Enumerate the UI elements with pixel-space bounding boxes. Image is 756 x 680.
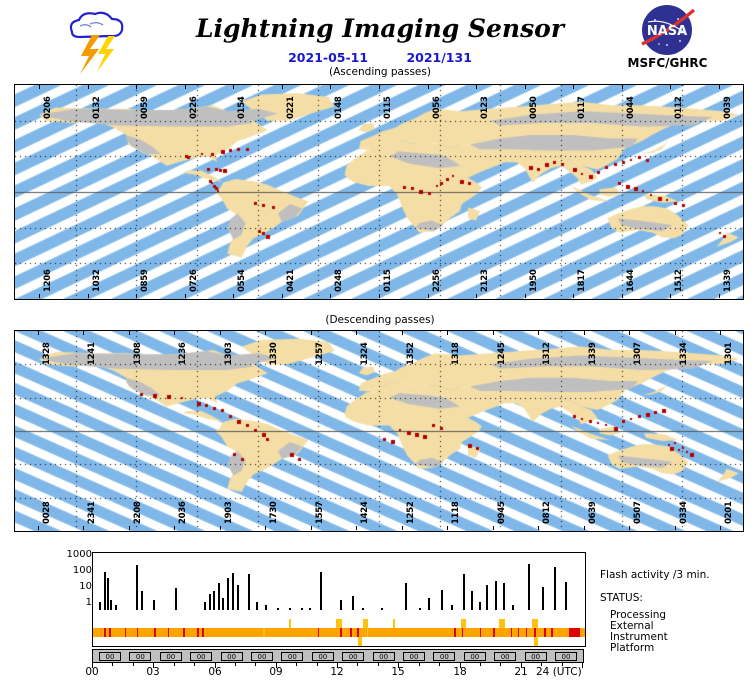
status-mark xyxy=(350,628,352,637)
histogram-bar xyxy=(107,578,109,611)
map-time-label: 1245 xyxy=(497,343,507,365)
map-tick xyxy=(525,294,526,298)
status-mark xyxy=(367,628,369,637)
map-time-label: 1557 xyxy=(315,502,325,524)
histogram-bar xyxy=(352,596,354,611)
status-mark xyxy=(168,628,170,637)
map-time-label: 0028 xyxy=(42,502,52,524)
map-time-label: 1257 xyxy=(315,343,325,365)
map-tick xyxy=(136,294,137,298)
map-tick xyxy=(233,85,234,89)
histogram-bar xyxy=(104,572,106,611)
map-tick xyxy=(311,331,312,335)
map-tick xyxy=(629,331,630,335)
descending-passes-map[interactable]: 1328124113081236130313301257132413521318… xyxy=(14,330,744,532)
status-mark xyxy=(551,628,553,637)
axis-time-label: 09 xyxy=(269,666,282,678)
map-time-label: 1334 xyxy=(679,343,689,365)
map-tick xyxy=(447,526,448,530)
status-mark xyxy=(340,628,342,637)
status-mark xyxy=(183,628,185,637)
histogram-bar xyxy=(405,583,407,611)
map-tick xyxy=(265,526,266,530)
orbit-box: 00 xyxy=(403,652,425,661)
orbit-box: 00 xyxy=(342,652,364,661)
map-tick xyxy=(330,294,331,298)
map-tick xyxy=(39,294,40,298)
observation-date: 2021-05-11 xyxy=(288,50,368,65)
map-tick xyxy=(428,85,429,89)
histogram-bar xyxy=(232,573,234,611)
map-time-label: 1301 xyxy=(724,343,734,365)
status-mark xyxy=(289,619,291,628)
agency-label: MSFC/GHRC xyxy=(610,56,725,70)
status-mark xyxy=(461,619,467,628)
axis-time-label: 18 xyxy=(453,666,466,678)
map-time-label: 1644 xyxy=(626,270,636,292)
map-tick xyxy=(573,294,574,298)
map-tick xyxy=(476,294,477,298)
status-mark xyxy=(480,628,482,637)
map-tick xyxy=(493,331,494,335)
map-time-label: 0812 xyxy=(542,502,552,524)
orbit-box: 00 xyxy=(129,652,151,661)
y-axis-tick-label: 1000 xyxy=(67,550,92,560)
orbit-axis-band: 00000000000000000000000000000000 xyxy=(92,649,584,663)
map-tick xyxy=(356,331,357,335)
map-tick xyxy=(447,331,448,335)
map-tick xyxy=(83,526,84,530)
legend-status-header: STATUS: xyxy=(600,592,643,604)
map-time-label: 0859 xyxy=(140,270,150,292)
page-title: Lightning Imaging Sensor xyxy=(180,14,580,43)
map-tick xyxy=(622,85,623,89)
legend-platform: Platform xyxy=(610,642,654,654)
map-tick xyxy=(39,85,40,89)
status-mark xyxy=(358,637,362,646)
map-time-label: 1303 xyxy=(224,343,234,365)
map-time-label: 0221 xyxy=(286,97,296,119)
status-mark xyxy=(104,628,106,637)
map-tick xyxy=(174,526,175,530)
map-tick xyxy=(476,85,477,89)
axis-time-label: 06 xyxy=(208,666,221,678)
map-tick xyxy=(402,331,403,335)
map-time-label: 1324 xyxy=(360,343,370,365)
map-time-label: 0639 xyxy=(588,502,598,524)
histogram-bar xyxy=(542,587,544,611)
map-time-label: 0334 xyxy=(679,502,689,524)
map-time-label: 1252 xyxy=(406,502,416,524)
map-tick xyxy=(88,85,89,89)
histogram-bar xyxy=(248,574,250,611)
orbit-box: 00 xyxy=(251,652,273,661)
map-tick xyxy=(402,526,403,530)
map-tick xyxy=(38,331,39,335)
map-time-label: 1352 xyxy=(406,343,416,365)
status-mark xyxy=(454,628,456,637)
map-time-label: 0112 xyxy=(674,97,684,119)
status-mark xyxy=(125,628,127,637)
orbit-box: 00 xyxy=(525,652,547,661)
map-tick xyxy=(584,331,585,335)
orbit-box: 00 xyxy=(190,652,212,661)
map-tick xyxy=(282,294,283,298)
status-mark xyxy=(534,637,538,646)
map-time-label: 1032 xyxy=(92,270,102,292)
map-tick xyxy=(83,331,84,335)
status-row-platform[interactable] xyxy=(92,637,586,647)
map-tick xyxy=(538,526,539,530)
status-mark xyxy=(544,628,546,637)
axis-time-label: 00 xyxy=(85,666,98,678)
map-tick xyxy=(719,85,720,89)
orbit-box: 00 xyxy=(281,652,303,661)
map-tick xyxy=(719,294,720,298)
map-time-label: 0554 xyxy=(237,270,247,292)
map-tick xyxy=(670,294,671,298)
histogram-bar xyxy=(495,581,497,611)
map-time-label: 1308 xyxy=(133,343,143,365)
status-mark xyxy=(336,619,342,628)
map-tick xyxy=(584,526,585,530)
orbit-box: 00 xyxy=(433,652,455,661)
orbit-box: 00 xyxy=(373,652,395,661)
map-tick xyxy=(675,331,676,335)
ascending-passes-map[interactable]: 0206013200590226015402210148011500560123… xyxy=(14,84,744,300)
map-tick xyxy=(185,294,186,298)
status-mark xyxy=(197,628,199,637)
histogram-bar xyxy=(565,582,567,611)
map-time-label: 0148 xyxy=(334,97,344,119)
map-time-label: 1236 xyxy=(178,343,188,365)
map-time-label: 1339 xyxy=(723,270,733,292)
map-tick xyxy=(220,331,221,335)
day-of-year: 2021/131 xyxy=(406,50,471,65)
map-time-label: 0248 xyxy=(334,270,344,292)
status-mark xyxy=(499,619,505,628)
map-tick xyxy=(622,294,623,298)
histogram-bar xyxy=(136,565,138,611)
histogram-bar xyxy=(218,583,220,611)
ascending-caption: (Ascending passes) xyxy=(180,66,580,78)
map-time-label: 1330 xyxy=(269,343,279,365)
map-time-label: 2341 xyxy=(87,502,97,524)
y-axis-tick-label: 10 xyxy=(79,582,92,592)
map-tick xyxy=(136,85,137,89)
status-mark xyxy=(263,628,265,637)
map-tick xyxy=(538,331,539,335)
map-tick xyxy=(720,526,721,530)
map-time-label: 1424 xyxy=(360,502,370,524)
orbit-box: 00 xyxy=(312,652,334,661)
y-axis-tick-label: 100 xyxy=(73,566,92,576)
orbit-box: 00 xyxy=(464,652,486,661)
date-bar: 2021-05-11 2021/131 xyxy=(180,50,580,65)
histogram-y-axis: 1000100101 xyxy=(52,550,92,612)
utc-axis-label: 24 (UTC) xyxy=(536,666,582,678)
map-tick xyxy=(282,85,283,89)
status-mark xyxy=(569,628,580,637)
map-tick xyxy=(675,526,676,530)
map-time-label: 1241 xyxy=(87,343,97,365)
histogram-bar xyxy=(227,578,229,611)
map-tick xyxy=(525,85,526,89)
orbit-box: 00 xyxy=(221,652,243,661)
map-time-label: 1118 xyxy=(451,502,461,524)
status-mark xyxy=(357,628,359,637)
map-time-label: 0154 xyxy=(237,97,247,119)
map-tick xyxy=(670,85,671,89)
map-tick xyxy=(379,85,380,89)
map-tick xyxy=(629,526,630,530)
map-time-label: 1512 xyxy=(674,270,684,292)
map-time-label: 1318 xyxy=(451,343,461,365)
map-tick xyxy=(233,294,234,298)
map-time-label: 0115 xyxy=(383,97,393,119)
map-tick xyxy=(428,294,429,298)
histogram-bar xyxy=(486,585,488,611)
map-tick xyxy=(185,85,186,89)
map-time-label: 2256 xyxy=(432,270,442,292)
descending-caption: (Descending passes) xyxy=(180,314,580,326)
status-mark xyxy=(511,628,513,637)
map-tick xyxy=(38,526,39,530)
map-time-label: 1307 xyxy=(633,343,643,365)
map-time-label: 0117 xyxy=(577,97,587,119)
map-time-label: 1950 xyxy=(529,270,539,292)
histogram-bar xyxy=(209,594,211,611)
map-time-label: 1206 xyxy=(43,270,53,292)
orbit-box: 00 xyxy=(99,652,121,661)
status-mark xyxy=(393,619,395,628)
axis-time-label: 21 xyxy=(514,666,527,678)
map-time-label: 0044 xyxy=(626,97,636,119)
status-mark xyxy=(318,628,320,637)
histogram-bar xyxy=(471,591,473,611)
legend-flash-activity: Flash activity /3 min. xyxy=(600,569,710,581)
map-tick xyxy=(129,331,130,335)
status-mark xyxy=(137,628,139,637)
map-time-label: 2036 xyxy=(178,502,188,524)
orbit-box: 00 xyxy=(555,652,577,661)
histogram-bar xyxy=(237,585,239,611)
map-time-label: 2123 xyxy=(480,270,490,292)
map-time-label: 1903 xyxy=(224,502,234,524)
histogram-bar xyxy=(320,572,322,611)
map-time-label: 1730 xyxy=(269,502,279,524)
histogram-bar xyxy=(213,591,215,611)
map-time-label: 2208 xyxy=(133,502,143,524)
map-time-label: 0507 xyxy=(633,502,643,524)
map-tick xyxy=(493,526,494,530)
map-time-label: 0421 xyxy=(286,270,296,292)
status-mark xyxy=(109,628,111,637)
map-time-label: 0726 xyxy=(189,270,199,292)
map-time-label: 1339 xyxy=(588,343,598,365)
status-mark xyxy=(462,628,464,637)
map-time-label: 0123 xyxy=(480,97,490,119)
axis-time-label: 12 xyxy=(330,666,343,678)
status-mark xyxy=(532,619,538,628)
histogram-bar xyxy=(175,588,177,611)
histogram-bar xyxy=(463,574,465,611)
axis-time-label: 15 xyxy=(391,666,404,678)
map-time-label: 1817 xyxy=(577,270,587,292)
map-time-label: 0132 xyxy=(92,97,102,119)
map-time-label: 0039 xyxy=(723,97,733,119)
status-mark xyxy=(526,628,528,637)
map-tick xyxy=(573,85,574,89)
map-time-label: 0056 xyxy=(432,97,442,119)
map-tick xyxy=(379,294,380,298)
map-time-label: 0945 xyxy=(497,502,507,524)
map-tick xyxy=(88,294,89,298)
status-mark xyxy=(363,619,369,628)
svg-text:NASA: NASA xyxy=(647,24,687,39)
axis-time-label: 03 xyxy=(146,666,159,678)
map-time-label: 0206 xyxy=(43,97,53,119)
status-mark xyxy=(154,628,156,637)
status-mark xyxy=(493,628,495,637)
page-header: Lightning Imaging Sensor 2021-05-11 2021… xyxy=(0,0,756,82)
map-time-label: 1328 xyxy=(42,343,52,365)
histogram-bar xyxy=(503,583,505,611)
status-mark xyxy=(518,628,520,637)
nasa-meatball-icon: NASA xyxy=(628,4,706,56)
map-tick xyxy=(356,526,357,530)
map-time-label: 1312 xyxy=(542,343,552,365)
storm-cloud-lightning-icon xyxy=(58,6,134,76)
map-tick xyxy=(330,85,331,89)
map-tick xyxy=(220,526,221,530)
map-tick xyxy=(720,331,721,335)
histogram-bar xyxy=(141,591,143,611)
orbit-box: 00 xyxy=(160,652,182,661)
map-time-label: 0201 xyxy=(724,502,734,524)
histogram-bar xyxy=(554,567,556,611)
map-time-label: 0050 xyxy=(529,97,539,119)
status-mark xyxy=(202,628,204,637)
map-time-label: 0226 xyxy=(189,97,199,119)
histogram-bar xyxy=(528,564,530,611)
map-time-label: 0115 xyxy=(383,270,393,292)
orbit-box: 00 xyxy=(494,652,516,661)
flash-activity-histogram[interactable] xyxy=(92,552,586,612)
map-tick xyxy=(129,526,130,530)
map-tick xyxy=(265,331,266,335)
map-time-label: 0059 xyxy=(140,97,150,119)
histogram-bar xyxy=(441,590,443,611)
map-tick xyxy=(311,526,312,530)
status-mark xyxy=(534,628,536,637)
map-tick xyxy=(174,331,175,335)
